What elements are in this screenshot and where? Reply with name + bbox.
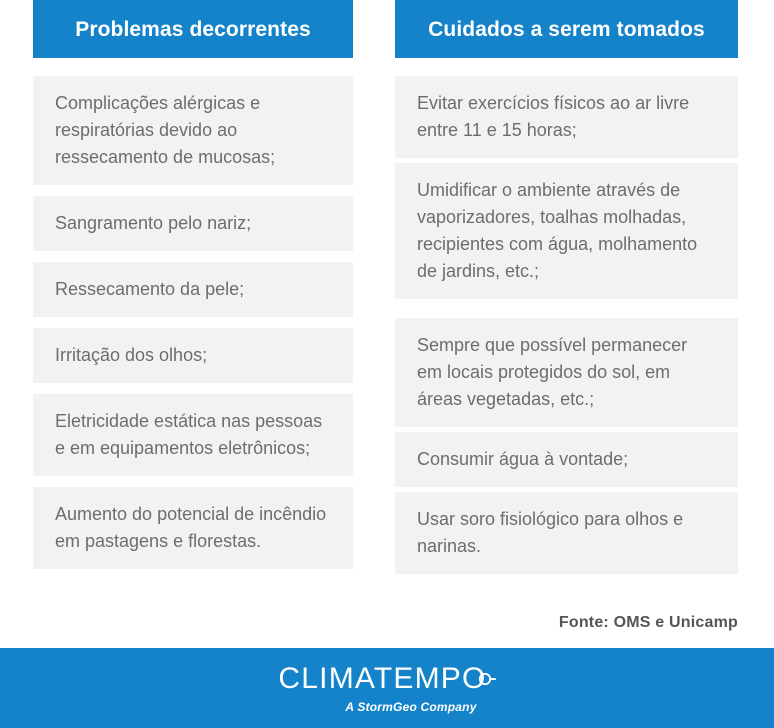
column-problems: Problemas decorrentes Complicações alérg… (33, 0, 353, 569)
row-text: Irritação dos olhos; (55, 342, 331, 369)
brand-tagline: A StormGeo Company (345, 701, 476, 713)
comparison-table: Problemas decorrentes Complicações alérg… (0, 0, 774, 648)
table-row: Complicações alérgicas e respiratórias d… (33, 76, 353, 185)
footer-brand-bar: CLIMATEMPO A StormGeo Company (0, 648, 774, 728)
brand-logo: CLIMATEMPO A StormGeo Company (278, 664, 495, 713)
table-row: Sempre que possível permanecer em locais… (395, 318, 738, 427)
row-text: Aumento do potencial de incêndio em past… (55, 501, 331, 555)
row-text: Sempre que possível permanecer em locais… (417, 332, 716, 413)
table-row: Consumir água à vontade; (395, 432, 738, 487)
table-row: Usar soro fisiológico para olhos e narin… (395, 492, 738, 574)
brand-name: CLIMATEMPO (278, 664, 486, 694)
row-list-care: Evitar exercícios físicos ao ar livre en… (395, 76, 738, 574)
source-note: Fonte: OMS e Unicamp (559, 614, 738, 632)
column-header-problems: Problemas decorrentes (33, 0, 353, 58)
row-text: Usar soro fisiológico para olhos e narin… (417, 506, 716, 560)
row-text: Sangramento pelo nariz; (55, 210, 331, 237)
table-row: Evitar exercícios físicos ao ar livre en… (395, 76, 738, 158)
column-header-care: Cuidados a serem tomados (395, 0, 738, 58)
row-text: Consumir água à vontade; (417, 446, 716, 473)
brand-wordmark: CLIMATEMPO (278, 664, 495, 694)
infographic-root: Problemas decorrentes Complicações alérg… (0, 0, 774, 728)
row-text: Evitar exercícios físicos ao ar livre en… (417, 90, 716, 144)
row-text: Eletricidade estática nas pessoas e em e… (55, 408, 331, 462)
table-row: Umidificar o ambiente através de vaporiz… (395, 163, 738, 299)
circle-dash-icon (478, 670, 496, 688)
row-text: Complicações alérgicas e respiratórias d… (55, 90, 331, 171)
table-row: Eletricidade estática nas pessoas e em e… (33, 394, 353, 476)
row-text: Umidificar o ambiente através de vaporiz… (417, 177, 716, 285)
table-row: Ressecamento da pele; (33, 262, 353, 317)
table-row: Aumento do potencial de incêndio em past… (33, 487, 353, 569)
row-list-problems: Complicações alérgicas e respiratórias d… (33, 76, 353, 569)
row-text: Ressecamento da pele; (55, 276, 331, 303)
table-row: Sangramento pelo nariz; (33, 196, 353, 251)
column-care: Cuidados a serem tomados Evitar exercíci… (395, 0, 738, 574)
table-row: Irritação dos olhos; (33, 328, 353, 383)
